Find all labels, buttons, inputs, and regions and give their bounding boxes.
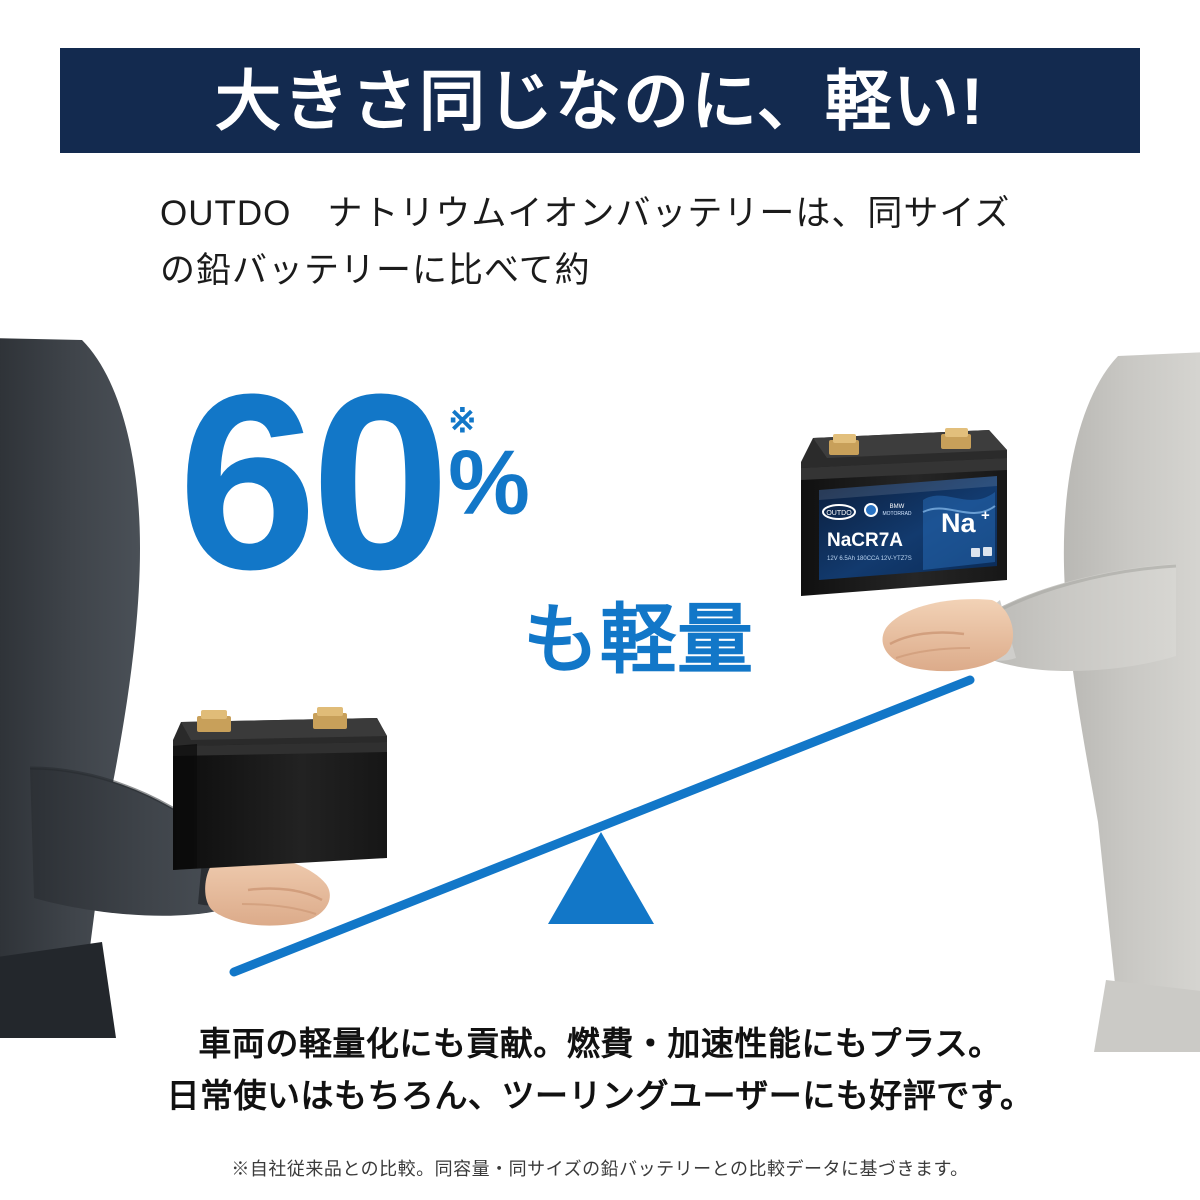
- headline-text: 大きさ同じなのに、軽い!: [215, 68, 985, 134]
- svg-text:12V 6.5Ah 180CCA 12V-YTZ7S: 12V 6.5Ah 180CCA 12V-YTZ7S: [827, 556, 912, 562]
- sodium-ion-battery: OUTDO BMW MOTORRAD NaCR7A Na + 12V 6.5Ah…: [793, 420, 1015, 606]
- svg-text:NaCR7A: NaCR7A: [827, 530, 903, 551]
- headline-banner: 大きさ同じなのに、軽い!: [60, 48, 1140, 153]
- highlight-number: 60: [178, 382, 444, 582]
- footnote: ※自社従来品との比較。同容量・同サイズの鉛バッテリーとの比較データに基づきます。: [0, 1155, 1200, 1181]
- bottom-line-1: 車両の軽量化にも貢献。燃費・加速性能にもプラス。: [0, 1018, 1200, 1070]
- lead-line-2: の鉛バッテリーに比べて約: [160, 243, 1120, 300]
- lead-acid-battery: [163, 700, 395, 882]
- bottom-copy: 車両の軽量化にも貢献。燃費・加速性能にもプラス。 日常使いはもちろん、ツーリング…: [0, 1018, 1200, 1122]
- svg-text:+: +: [981, 507, 990, 524]
- highlight-suffix: も軽量: [523, 578, 754, 688]
- svg-text:MOTORRAD: MOTORRAD: [882, 511, 911, 517]
- svg-text:BMW: BMW: [890, 504, 905, 510]
- bottom-line-2: 日常使いはもちろん、ツーリングユーザーにも好評です。: [0, 1070, 1200, 1122]
- lead-paragraph: OUTDO ナトリウムイオンバッテリーは、同サイズ の鉛バッテリーに比べて約: [160, 186, 1120, 299]
- promo-canvas: 大きさ同じなのに、軽い! OUTDO ナトリウムイオンバッテリーは、同サイズ の…: [0, 0, 1200, 1200]
- svg-text:Na: Na: [941, 508, 976, 538]
- highlight-unit-group: ※ %: [448, 404, 530, 525]
- lead-line-1: OUTDO ナトリウムイオンバッテリーは、同サイズ: [160, 186, 1120, 243]
- highlight-percent-sign: %: [448, 442, 530, 525]
- seesaw-fulcrum: [548, 832, 654, 924]
- weight-reduction-highlight: 60 ※ % も軽量: [178, 382, 526, 582]
- svg-text:OUTDO: OUTDO: [826, 510, 852, 517]
